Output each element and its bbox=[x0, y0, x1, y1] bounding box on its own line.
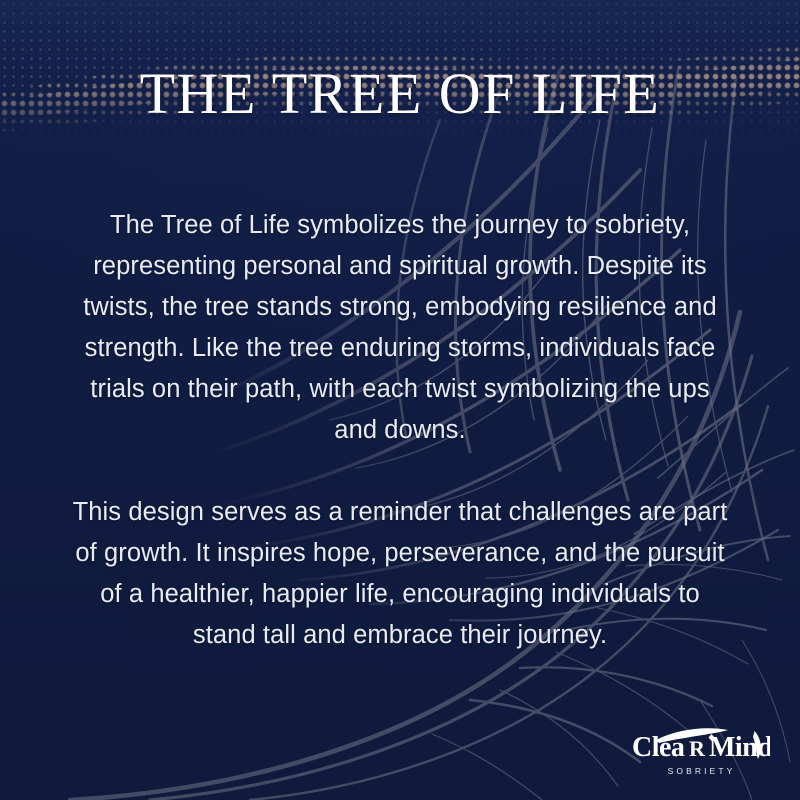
body-paragraph-1: The Tree of Life symbolizes the journey … bbox=[68, 205, 732, 451]
page-title: The Tree of Life bbox=[140, 65, 661, 123]
poster-title-container: The Tree of Life bbox=[0, 26, 800, 162]
clearmind-wordmark-icon: Clea R Mind bbox=[630, 723, 770, 765]
body-paragraph-2: This design serves as a reminder that ch… bbox=[68, 492, 732, 656]
brand-tagline: SOBRIETY bbox=[630, 766, 770, 776]
poster-body-copy: The Tree of Life symbolizes the journey … bbox=[68, 205, 732, 656]
svg-text:Clea: Clea bbox=[632, 732, 685, 763]
svg-text:R: R bbox=[689, 736, 706, 761]
poster-canvas: The Tree of Life The Tree of Life symbol… bbox=[0, 0, 800, 800]
brand-logo: Clea R Mind SOBRIETY bbox=[630, 723, 770, 776]
svg-text:Mind: Mind bbox=[709, 732, 770, 763]
